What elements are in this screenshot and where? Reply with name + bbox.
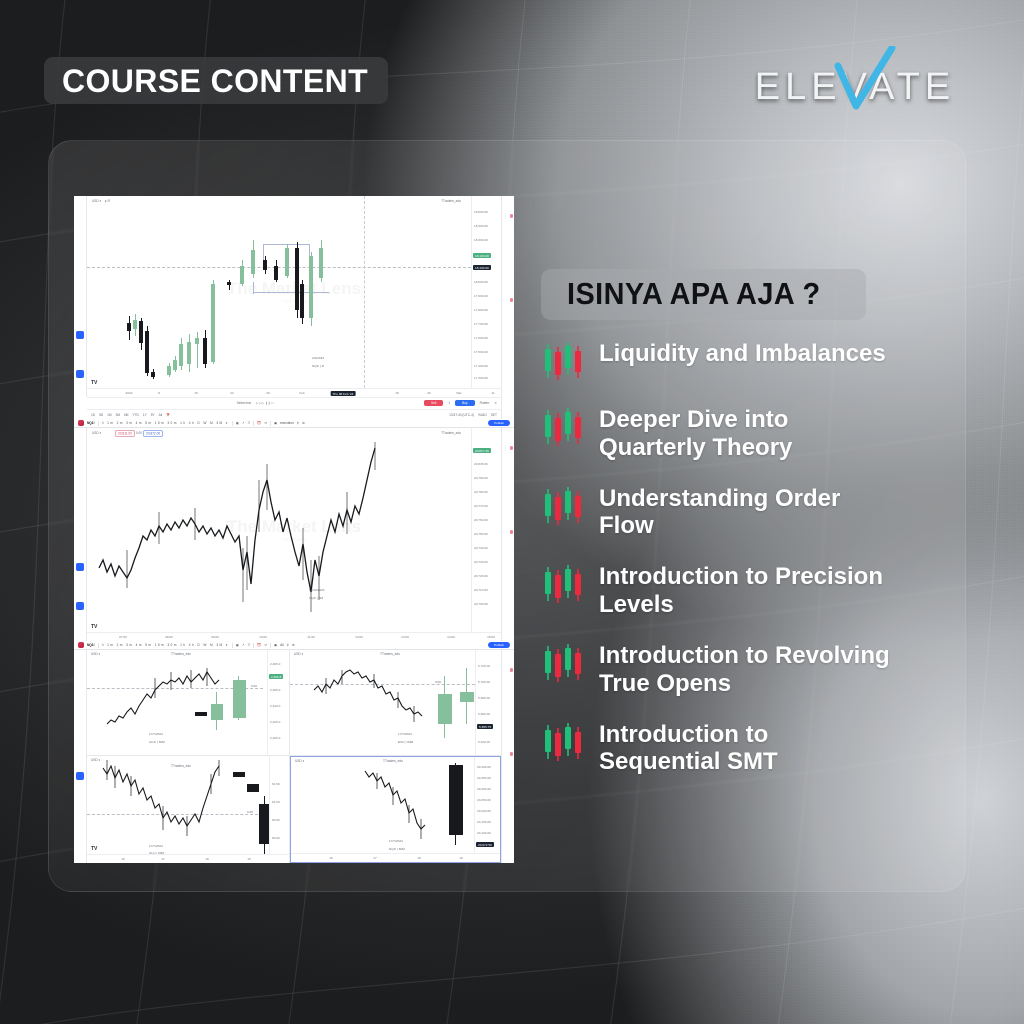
link-icon[interactable]: [76, 811, 84, 819]
price-tag-green-2: 20,817.25: [473, 448, 491, 453]
app-toolbar-3[interactable]: NQ1! ⏱ 1m 2m 3m 4m 5m 15m 30m 1h 4h D W …: [74, 641, 514, 650]
ruler-icon[interactable]: [76, 524, 84, 532]
list-item-label: Deeper Dive intoQuarterly Theory: [599, 405, 792, 462]
orders-icon[interactable]: [504, 517, 512, 525]
list-item[interactable]: Introduction to PrecisionLevels: [541, 562, 961, 619]
text-icon[interactable]: [76, 266, 84, 274]
note-date-3a: 17/7/2024: [149, 732, 163, 736]
templates-icon[interactable]: ☷: [248, 643, 251, 647]
chart-legend-2: TTraders_edu: [441, 431, 461, 435]
stream-icon[interactable]: [504, 503, 512, 511]
order-chip-red-2[interactable]: 20,811.00: [115, 430, 135, 437]
checkmark-arrow-icon: [834, 46, 896, 112]
range-line-2: [253, 292, 329, 293]
indicators-icon[interactable]: ↗: [242, 643, 245, 647]
templates-icon[interactable]: ☷: [248, 421, 251, 425]
note-symbol-3d: NQ1! | 60M: [389, 847, 405, 851]
pattern-icon[interactable]: [76, 459, 84, 467]
buy-button[interactable]: Buy: [455, 400, 475, 406]
fib-icon[interactable]: [76, 240, 84, 248]
chart-pane-3c[interactable]: USD ▾ TTraders_edu 0.00 17/7/2024 CL1! |…: [87, 756, 290, 863]
currency-selector-3d[interactable]: USD ▾: [295, 759, 304, 763]
trendline-icon[interactable]: [76, 446, 84, 454]
timeframe-list-2[interactable]: 1m 2m 3m 4m 5m 15m 30m 1h 4h D W M 3M ▾: [107, 421, 229, 425]
timeframe-list-3[interactable]: 1m 2m 3m 4m 5m 15m 30m 1h 4h D W M 3M ▾: [107, 643, 229, 647]
layout-grid-icon[interactable]: ▣: [274, 643, 277, 647]
search-icon[interactable]: ⚲: [297, 421, 299, 425]
magnet-icon[interactable]: [76, 305, 84, 313]
ruler-icon[interactable]: [76, 292, 84, 300]
clock-icon[interactable]: ⏱: [102, 643, 105, 647]
magnet2-icon[interactable]: [76, 370, 84, 378]
tf-5d[interactable]: 5D: [99, 413, 103, 417]
trash-icon[interactable]: [76, 589, 84, 597]
candlestick-bullet-icon: [541, 407, 587, 449]
text-icon[interactable]: [76, 498, 84, 506]
home-icon[interactable]: [76, 550, 84, 558]
tf-6m[interactable]: 6M: [124, 413, 128, 417]
heart-icon[interactable]: [76, 733, 84, 741]
price-series-2: [97, 440, 457, 625]
chart-note-symbol-2: NQ1! | 3M: [309, 596, 323, 600]
candlestick-bullet-icon: [541, 643, 587, 685]
trash-icon[interactable]: [76, 344, 84, 352]
ideas-icon[interactable]: [504, 475, 512, 483]
section-title: ISINYA APA AJA ?: [567, 278, 821, 309]
note-date-3b: 17/7/2024: [398, 732, 412, 736]
left-tool-rail-3[interactable]: [74, 650, 87, 863]
alerts-icon[interactable]: [504, 215, 512, 223]
price-series-3c: [101, 760, 231, 846]
mode-label-1[interactable]: SET: [491, 413, 497, 417]
sell-button[interactable]: Sell: [424, 400, 443, 406]
tf-1d[interactable]: 1D: [91, 413, 95, 417]
settings-icon[interactable]: ⚙: [302, 421, 305, 425]
note-date-3d: 17/7/2024: [389, 839, 403, 843]
course-topics-list: Liquidity and Imbalances Deeper Dive int…: [541, 339, 961, 798]
chart-note-date-2: 10/10/2024: [309, 588, 324, 592]
tradingview-logo-icon: TV: [91, 624, 97, 630]
time-axis-3c[interactable]: 16 17 18 19: [87, 854, 289, 863]
chart-pane-3b[interactable]: USD ▾ TTraders_edu 0.00 17/7/2024 ES1! |…: [290, 650, 501, 756]
list-item-label: Introduction to RevolvingTrue Opens: [599, 641, 890, 698]
indicators-icon[interactable]: ↗: [242, 421, 245, 425]
chat-icon[interactable]: [504, 683, 512, 691]
content-card: USD ▾ ● R TTraders_edu The Market Lens t…: [48, 140, 966, 892]
note-date-3c: 17/7/2024: [149, 844, 163, 848]
broker-icon[interactable]: [504, 531, 512, 539]
tradingview-logo-icon[interactable]: [78, 642, 84, 648]
brush-icon[interactable]: [76, 253, 84, 261]
chart-legend-3a: TTraders_edu: [171, 652, 191, 656]
currency-selector-1[interactable]: USD ▾ ● R: [92, 199, 110, 203]
crosshair-icon[interactable]: [76, 201, 84, 209]
price-tag-3a: 2,458.8: [269, 674, 283, 679]
chart-note-symbol-1: NQ1! | D: [312, 364, 324, 368]
elevate-logo: ELEVATE: [730, 52, 980, 114]
watchlist-icon[interactable]: [504, 433, 512, 441]
lock-icon[interactable]: [76, 318, 84, 326]
mobile-icon[interactable]: [76, 615, 84, 623]
left-tool-rail-2[interactable]: [74, 428, 87, 641]
time-axis-2[interactable]: 07:00 08:00 09:00 10:00 11:00 12:00 13:0…: [87, 632, 501, 641]
fib-icon[interactable]: [76, 472, 84, 480]
replay-step-icons[interactable]: ▷ ▷▷ ❙❙ □: [256, 401, 273, 405]
flatten-button[interactable]: Flatten: [480, 401, 490, 405]
note-symbol-3a: GC1! | 60M: [149, 740, 165, 744]
currency-selector-2[interactable]: USD ▾: [92, 431, 101, 435]
tf-1y[interactable]: 1Y: [143, 413, 147, 417]
symbol-search-3[interactable]: NQ1!: [87, 643, 95, 647]
alert-icon[interactable]: ⏰: [257, 643, 261, 647]
candlestick-bullet-icon: [541, 564, 587, 606]
publish-button-2[interactable]: Publish: [488, 420, 510, 426]
level-value-3c: 0.00: [247, 810, 253, 814]
magnet2-icon[interactable]: [76, 602, 84, 610]
price-axis-1[interactable]: 18,500.00 18,400.00 18,300.00 18,193.00 …: [471, 196, 501, 397]
tf-ytd[interactable]: YTD: [132, 413, 138, 417]
crosshair-icon[interactable]: [76, 433, 84, 441]
right-widget-rail-3[interactable]: [501, 650, 514, 863]
price-axis-3c[interactable]: 81.50 81.00 80.50 80.00: [269, 756, 289, 863]
left-tool-rail-1[interactable]: [74, 196, 87, 397]
stream-icon[interactable]: [504, 271, 512, 279]
tf-5y[interactable]: 5Y: [151, 413, 155, 417]
lock-icon[interactable]: [76, 785, 84, 793]
ideas-icon[interactable]: [504, 697, 512, 705]
session-label-1[interactable]: %ADJ: [478, 413, 487, 417]
crosshair-icon[interactable]: [76, 655, 84, 663]
price-axis-2[interactable]: 20,817.25 20,835.00 20,790.00 20,780.00 …: [471, 428, 501, 641]
level-value-3a: 0.00: [251, 684, 257, 688]
screenshot-stack: USD ▾ ● R TTraders_edu The Market Lens t…: [74, 196, 514, 863]
select-bar-dropdown[interactable]: Select bar: [237, 401, 251, 405]
tradingview-logo-icon[interactable]: [78, 420, 84, 426]
right-widget-rail-1[interactable]: [501, 196, 514, 419]
alerts-icon[interactable]: [504, 447, 512, 455]
timeframe-bar-1[interactable]: 1D 5D 1M 3M 6M YTD 1Y 5Y All 📅 13:57:43 …: [87, 409, 501, 419]
magnet-icon[interactable]: [76, 537, 84, 545]
price-tag-dark-1: 18,100.00: [473, 265, 491, 270]
list-item[interactable]: Understanding OrderFlow: [541, 484, 961, 541]
price-axis-3b[interactable]: 5,720.00 5,700.00 5,680.00 5,660.00 5,65…: [475, 650, 501, 755]
mobile-icon[interactable]: [76, 824, 84, 832]
close-icon[interactable]: ✕: [494, 401, 497, 405]
right-widget-rail-2[interactable]: [501, 428, 514, 641]
heart-icon[interactable]: [76, 279, 84, 287]
chart-note-date-1: 2/2/2024: [312, 356, 324, 360]
tradingview-logo-icon: TV: [91, 380, 97, 386]
price-series-3b: [312, 666, 432, 736]
time-axis-1[interactable]: 2024 8 15 22 29 Feb Thu 08 Feb '24 15 26…: [87, 388, 501, 397]
eye-icon[interactable]: [76, 772, 84, 780]
list-item-label: Introduction toSequential SMT: [599, 720, 778, 777]
zoom-icon[interactable]: [76, 357, 84, 365]
trendline-icon[interactable]: [76, 214, 84, 222]
text-icon[interactable]: [76, 720, 84, 728]
chart-pane-3a[interactable]: USD ▾ TTraders_edu 0.00 17/7/2024 GC1! |…: [87, 650, 290, 756]
orders-icon[interactable]: [504, 285, 512, 293]
candlestick-bullet-icon: [541, 722, 587, 764]
trendline-icon[interactable]: [76, 668, 84, 676]
currency-selector-3b[interactable]: USD ▾: [294, 652, 303, 656]
mobile-icon[interactable]: [76, 383, 84, 391]
tradingview-screenshot-2[interactable]: NQ1! ⏱ 1m 2m 3m 4m 5m 15m 30m 1h 4h D W …: [74, 419, 514, 641]
price-axis-3d[interactable]: 20,400.00 20,350.00 20,300.00 20,250.00 …: [474, 757, 500, 862]
chart-pane-2[interactable]: USD ▾ 20,811.00 0.00 20,872.00 TTraders_…: [87, 428, 501, 641]
layout-name-3[interactable]: All: [280, 643, 284, 647]
tf-3m[interactable]: 3M: [116, 413, 120, 417]
candles-type-icon[interactable]: ▦: [236, 643, 239, 647]
publish-button-3[interactable]: Publish: [488, 642, 510, 648]
chat-icon[interactable]: [504, 461, 512, 469]
price-series-3d: [363, 767, 429, 847]
list-item[interactable]: Liquidity and Imbalances: [541, 339, 961, 383]
time-axis-3d[interactable]: 16 17 18 19: [291, 853, 500, 862]
pattern-icon[interactable]: [76, 681, 84, 689]
broker-icon[interactable]: [504, 753, 512, 761]
fib-icon[interactable]: [76, 694, 84, 702]
eye-icon[interactable]: [76, 563, 84, 571]
tradingview-screenshot-1[interactable]: USD ▾ ● R TTraders_edu The Market Lens t…: [74, 196, 514, 419]
candlestick-bullet-icon: [541, 486, 587, 528]
zoom-icon[interactable]: [76, 759, 84, 767]
price-tag-3b: 5,655.75: [477, 724, 493, 729]
page-title: COURSE CONTENT: [44, 57, 388, 104]
replay-icon[interactable]: ↺: [264, 421, 267, 425]
tf-all[interactable]: All: [159, 413, 163, 417]
list-item[interactable]: Deeper Dive intoQuarterly Theory: [541, 405, 961, 462]
time-axis-now-1: Thu 08 Feb '24: [331, 391, 356, 396]
broker-icon[interactable]: [504, 299, 512, 307]
header: COURSE CONTENT ELEVATE: [0, 0, 1024, 140]
stream-icon[interactable]: [504, 725, 512, 733]
level-line: [87, 267, 471, 268]
qty-value[interactable]: 1: [448, 401, 450, 405]
eye-icon[interactable]: [76, 331, 84, 339]
rect-icon[interactable]: [76, 707, 84, 715]
search-icon[interactable]: ⚲: [287, 643, 289, 647]
watchlist-icon[interactable]: [504, 201, 512, 209]
candlestick-bullet-icon: [541, 341, 587, 383]
brush-icon[interactable]: [76, 485, 84, 493]
layout-name-2[interactable]: execution: [280, 421, 294, 425]
clock-icon[interactable]: ⏱: [102, 421, 105, 425]
crosshair-vline: [364, 196, 365, 388]
order-chip-level-2: 0.00: [136, 431, 142, 435]
range-edge: [253, 282, 254, 294]
trade-bar-1[interactable]: Select bar ▷ ▷▷ ❙❙ □ Sell 1 Buy Flatten …: [87, 397, 501, 408]
price-tag-3d: 20,072.50: [476, 842, 494, 847]
order-chip-blue-2[interactable]: 20,872.00: [143, 430, 163, 437]
course-content-label: COURSE CONTENT: [62, 65, 368, 97]
chart-legend-3d: TTraders_edu: [383, 759, 403, 763]
chart-pane-3d[interactable]: USD ▾ TTraders_edu 17/7/2024 NQ1! | 60M …: [290, 756, 501, 863]
watchlist-icon[interactable]: [504, 655, 512, 663]
tradingview-screenshot-3[interactable]: NQ1! ⏱ 1m 2m 3m 4m 5m 15m 30m 1h 4h D W …: [74, 641, 514, 863]
price-tag-green-1: 18,193.00: [473, 253, 491, 258]
list-item[interactable]: Introduction toSequential SMT: [541, 720, 961, 777]
ideas-icon[interactable]: [504, 243, 512, 251]
candles-type-icon[interactable]: ▦: [236, 421, 239, 425]
chart-legend-1: TTraders_edu: [441, 199, 461, 203]
currency-selector-3c[interactable]: USD ▾: [91, 758, 100, 762]
magnet-icon[interactable]: [76, 798, 84, 806]
lock-icon[interactable]: [76, 576, 84, 584]
symbol-search-2[interactable]: NQ1!: [87, 421, 95, 425]
tradingview-logo-icon: TV: [91, 846, 97, 852]
notes-icon[interactable]: [504, 489, 512, 497]
heart-icon[interactable]: [76, 511, 84, 519]
price-axis-3a[interactable]: 2,480.0 2,458.8 2,460.0 2,440.0 2,420.0 …: [267, 650, 289, 755]
calendar-icon[interactable]: 📅: [166, 413, 170, 417]
note-symbol-3b: ES1! | 60M: [398, 740, 413, 744]
alerts-icon[interactable]: [504, 669, 512, 677]
notes-icon[interactable]: [504, 711, 512, 719]
ruler-icon[interactable]: [76, 746, 84, 754]
clock-label-1: 13:57:43 (UTC-4): [449, 413, 474, 417]
list-item-label: Liquidity and Imbalances: [599, 339, 886, 368]
list-item[interactable]: Introduction to RevolvingTrue Opens: [541, 641, 961, 698]
tf-1m[interactable]: 1M: [107, 413, 111, 417]
settings-icon[interactable]: ⚙: [292, 643, 295, 647]
level-value-3b: 0.00: [435, 680, 441, 684]
chat-icon[interactable]: [504, 229, 512, 237]
orders-icon[interactable]: [504, 739, 512, 747]
list-item-label: Understanding OrderFlow: [599, 484, 840, 541]
alert-icon[interactable]: ⏰: [257, 421, 261, 425]
replay-icon[interactable]: ↺: [264, 643, 267, 647]
app-toolbar-2[interactable]: NQ1! ⏱ 1m 2m 3m 4m 5m 15m 30m 1h 4h D W …: [74, 419, 514, 428]
chart-legend-3b: TTraders_edu: [380, 652, 400, 656]
notes-icon[interactable]: [504, 257, 512, 265]
pattern-icon[interactable]: [76, 227, 84, 235]
chart-pane-1[interactable]: USD ▾ ● R TTraders_edu The Market Lens t…: [87, 196, 501, 397]
section-title-box: ISINYA APA AJA ?: [541, 269, 866, 320]
layout-icon[interactable]: ▣: [274, 421, 277, 425]
currency-selector-3a[interactable]: USD ▾: [91, 652, 100, 656]
list-item-label: Introduction to PrecisionLevels: [599, 562, 883, 619]
